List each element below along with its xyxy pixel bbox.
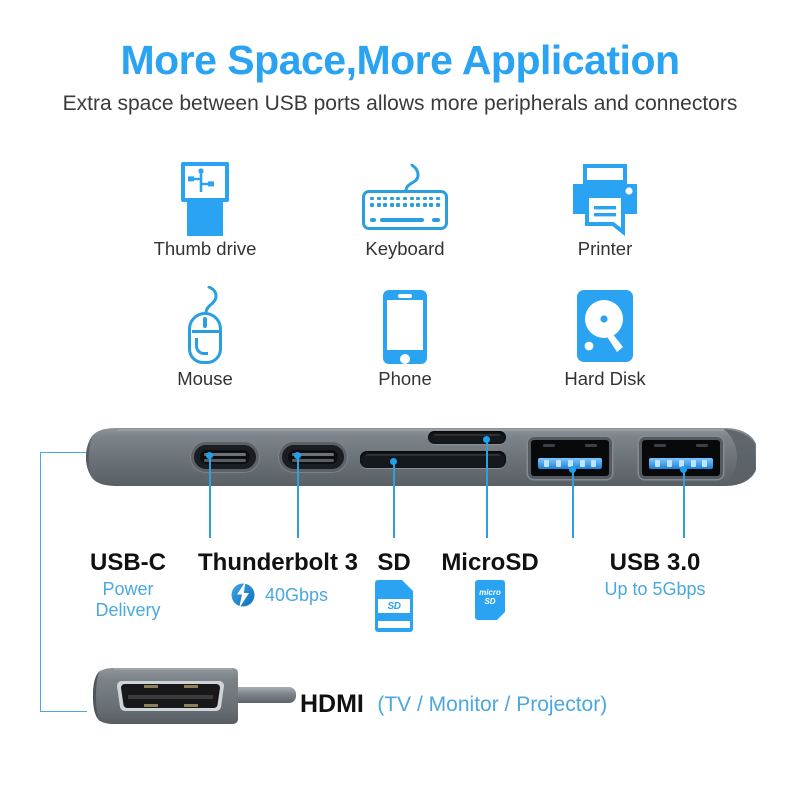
label-thunderbolt-3: Thunderbolt 3 40Gbps [178, 550, 378, 610]
label-speed: 40Gbps [265, 585, 328, 605]
label-sd: SD SD [355, 550, 433, 632]
peripheral-icon-grid: Thumb drive Keyboard [105, 158, 705, 398]
peripheral-hard-disk: Hard Disk [505, 288, 705, 390]
sd-card-icon: SD [375, 580, 413, 632]
label-title: Thunderbolt 3 [178, 550, 378, 576]
peripheral-label: Printer [505, 238, 705, 260]
port-label-row: USB-C Power Delivery Thunderbolt 3 [0, 544, 800, 654]
peripheral-thumb-drive: Thumb drive [105, 158, 305, 260]
port-thunderbolt-3[interactable] [282, 445, 344, 469]
callout-line-thunderbolt [297, 458, 299, 538]
label-title: MicroSD [425, 550, 555, 576]
cable-glyph [402, 164, 428, 192]
usb-hub-device [78, 428, 758, 486]
port-sd-slot[interactable] [360, 451, 506, 468]
printer-icon [567, 164, 643, 236]
label-sub: (TV / Monitor / Projector) [377, 693, 607, 717]
microsd-card-icon: micro SD [475, 580, 505, 620]
peripheral-printer: Printer [505, 158, 705, 260]
peripheral-mouse: Mouse [105, 288, 305, 390]
smartphone-icon [383, 290, 427, 364]
label-usb-c: USB-C Power Delivery [68, 550, 188, 620]
hard-disk-icon [577, 290, 633, 362]
page-subtitle: Extra space between USB ports allows mor… [0, 92, 800, 115]
cable-glyph [198, 286, 220, 314]
label-hdmi: HDMI (TV / Monitor / Projector) [300, 690, 607, 719]
callout-line-microsd [486, 442, 488, 538]
page-title: More Space,More Application [0, 40, 800, 81]
mouse-icon [182, 288, 228, 366]
keyboard-icon [362, 166, 448, 232]
port-usb-c[interactable] [194, 445, 256, 469]
callout-line-usb3-left [572, 472, 574, 538]
callout-line-usb-c [209, 458, 211, 538]
callout-line-usb3-right [683, 472, 685, 538]
label-sub-line-2: Delivery [68, 600, 188, 620]
hdmi-port-opening [117, 681, 224, 711]
thunderbolt-icon [228, 580, 258, 610]
label-title: USB 3.0 [560, 550, 750, 576]
callout-line-sd [393, 464, 395, 538]
hdmi-body-shell [86, 668, 301, 724]
peripheral-phone: Phone [305, 288, 505, 390]
usb-trident-glyph [186, 167, 216, 197]
peripheral-label: Thumb drive [105, 238, 305, 260]
peripheral-label: Phone [305, 368, 505, 390]
label-title: USB-C [68, 550, 188, 576]
port-microsd-slot[interactable] [428, 431, 506, 444]
label-title: HDMI [300, 690, 364, 719]
sd-glyph-text: SD [388, 601, 401, 612]
usb-thumb-drive-icon [177, 162, 233, 236]
peripheral-label: Mouse [105, 368, 305, 390]
infographic-canvas: More Space,More Application Extra space … [0, 0, 800, 800]
peripheral-keyboard: Keyboard [305, 158, 505, 260]
peripheral-label: Keyboard [305, 238, 505, 260]
label-title: SD [355, 550, 433, 576]
hdmi-adapter-module [86, 668, 301, 724]
label-usb-3-0: USB 3.0 Up to 5Gbps [560, 550, 750, 600]
label-sub-line-1: Power [68, 579, 188, 599]
label-sub: Up to 5Gbps [560, 579, 750, 599]
microsd-glyph-line-2: SD [484, 597, 495, 606]
peripheral-label: Hard Disk [505, 368, 705, 390]
label-microsd: MicroSD micro SD [425, 550, 555, 620]
